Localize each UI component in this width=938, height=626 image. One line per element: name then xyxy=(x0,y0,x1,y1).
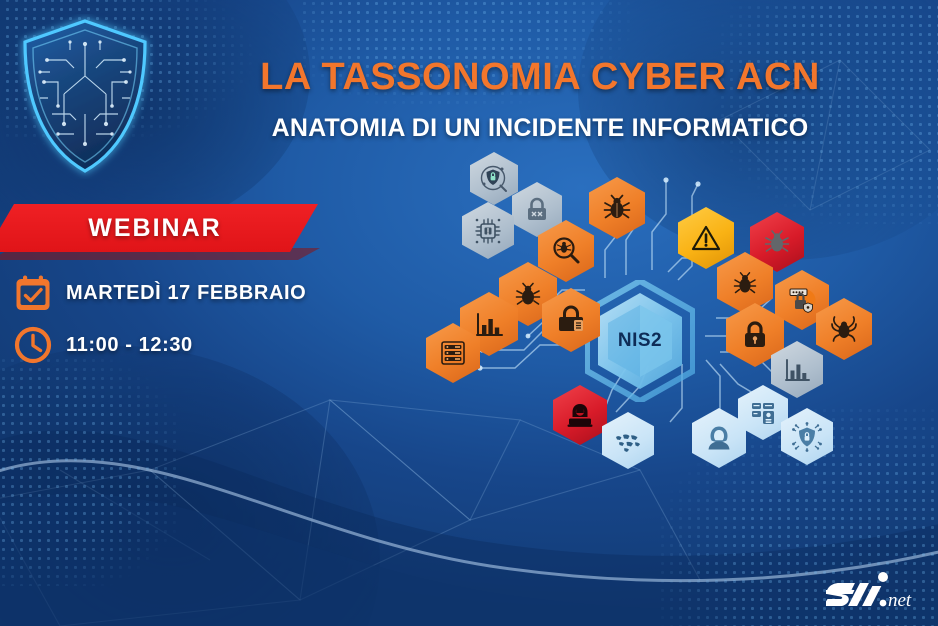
clock-icon xyxy=(14,326,52,364)
shield-network-icon xyxy=(781,408,833,465)
event-time-text: 11:00 - 12:30 xyxy=(66,334,193,357)
event-date-row: MARTEDÌ 17 FEBBRAIO xyxy=(14,274,306,312)
hexagon-network: NIS2 xyxy=(420,140,938,485)
hacker-icon xyxy=(553,385,607,445)
world-map-icon xyxy=(602,412,654,469)
hooded-figure-icon xyxy=(692,408,746,468)
event-time-row: 11:00 - 12:30 xyxy=(14,326,193,364)
svg-text:net: net xyxy=(888,590,912,611)
hexagon-node-group xyxy=(420,140,938,485)
warning-triangle-icon xyxy=(678,207,734,269)
sinet-logo: net xyxy=(826,564,922,612)
background-blob-bottom-left xyxy=(0,346,380,626)
banner-canvas: LA TASSONOMIA CYBER ACN ANATOMIA DI UN I… xyxy=(0,0,938,626)
dot-pattern-bottom-left xyxy=(0,356,180,586)
page-subtitle: ANATOMIA DI UN INCIDENTE INFORMATICO xyxy=(180,114,900,143)
shield-lock-search-icon xyxy=(470,152,518,205)
webinar-ribbon: WEBINAR xyxy=(0,204,318,252)
event-date-text: MARTEDÌ 17 FEBBRAIO xyxy=(66,282,306,305)
webinar-ribbon-label: WEBINAR xyxy=(82,214,221,243)
page-title: LA TASSONOMIA CYBER ACN xyxy=(180,56,900,99)
microchip-alert-icon xyxy=(462,202,514,259)
circuit-shield-icon xyxy=(14,14,156,179)
calendar-check-icon xyxy=(14,274,52,312)
bug-icon xyxy=(589,177,645,239)
